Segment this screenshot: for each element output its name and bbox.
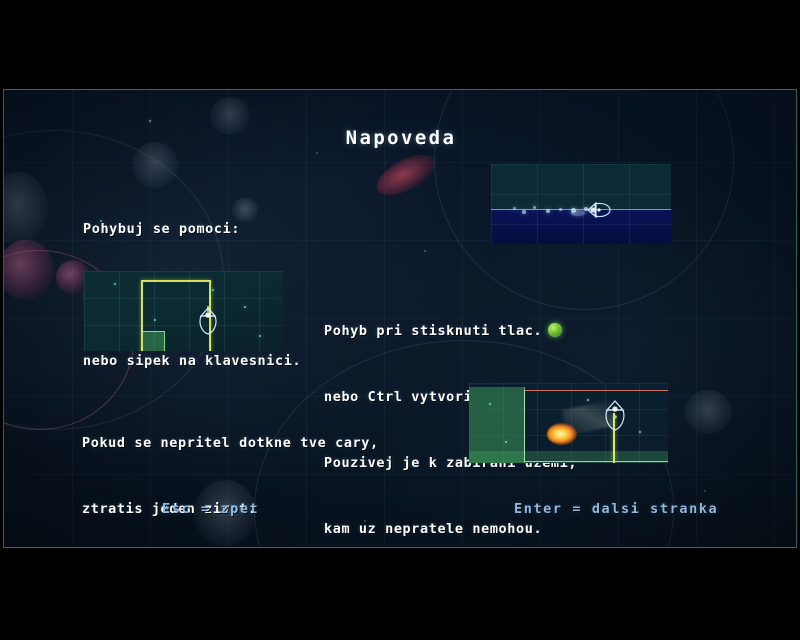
enemy-trap-demo-panel — [469, 383, 668, 463]
hint-enter-next-page[interactable]: Enter = dalsi stranka — [514, 501, 718, 517]
background-creature-pale — [3, 172, 48, 244]
game-screen: Napoveda Pohybuj se pomoci: packy ovlada… — [0, 0, 800, 640]
trail-dot — [522, 210, 526, 214]
trail-dot — [546, 209, 550, 213]
background-spark — [424, 250, 426, 252]
background-spark — [149, 120, 151, 122]
help-line-with-icon: Pohyb pri stisknuti tlac. — [324, 320, 577, 342]
background-creature-pink — [3, 240, 54, 300]
background-spark — [316, 152, 318, 154]
hint-escape-back[interactable]: Esc = zpet — [162, 501, 259, 517]
trail-dot — [571, 210, 585, 216]
letterbox-bottom — [0, 549, 800, 640]
letterbox-top — [0, 0, 800, 89]
help-line: nebo sipek na klavesnici. — [83, 350, 301, 372]
page-title: Napoveda — [4, 127, 797, 149]
explosion-effect — [547, 423, 577, 445]
movement-demo-panel — [491, 164, 671, 244]
game-viewport: Napoveda Pohybuj se pomoci: packy ovlada… — [3, 89, 797, 548]
background-spark — [704, 490, 706, 492]
draw-line-demo-panel — [84, 271, 283, 351]
trail-dot — [533, 206, 536, 209]
panel-grid — [491, 164, 671, 244]
background-creature-pale — [684, 390, 732, 434]
trail-dot — [559, 208, 562, 211]
help-line: Pokud se nepritel dotkne tve cary, — [82, 432, 422, 454]
help-line: Pohyb pri stisknuti tlac. — [324, 323, 542, 339]
background-creature-red — [371, 147, 442, 204]
trail-dot — [513, 207, 516, 210]
help-text-enemies: Pokud se nepritel dotkne tve cary, ztrat… — [82, 388, 422, 548]
help-line: Pohybuj se pomoci: — [83, 218, 301, 240]
enemy-line — [525, 390, 667, 391]
green-button-icon — [548, 323, 562, 337]
